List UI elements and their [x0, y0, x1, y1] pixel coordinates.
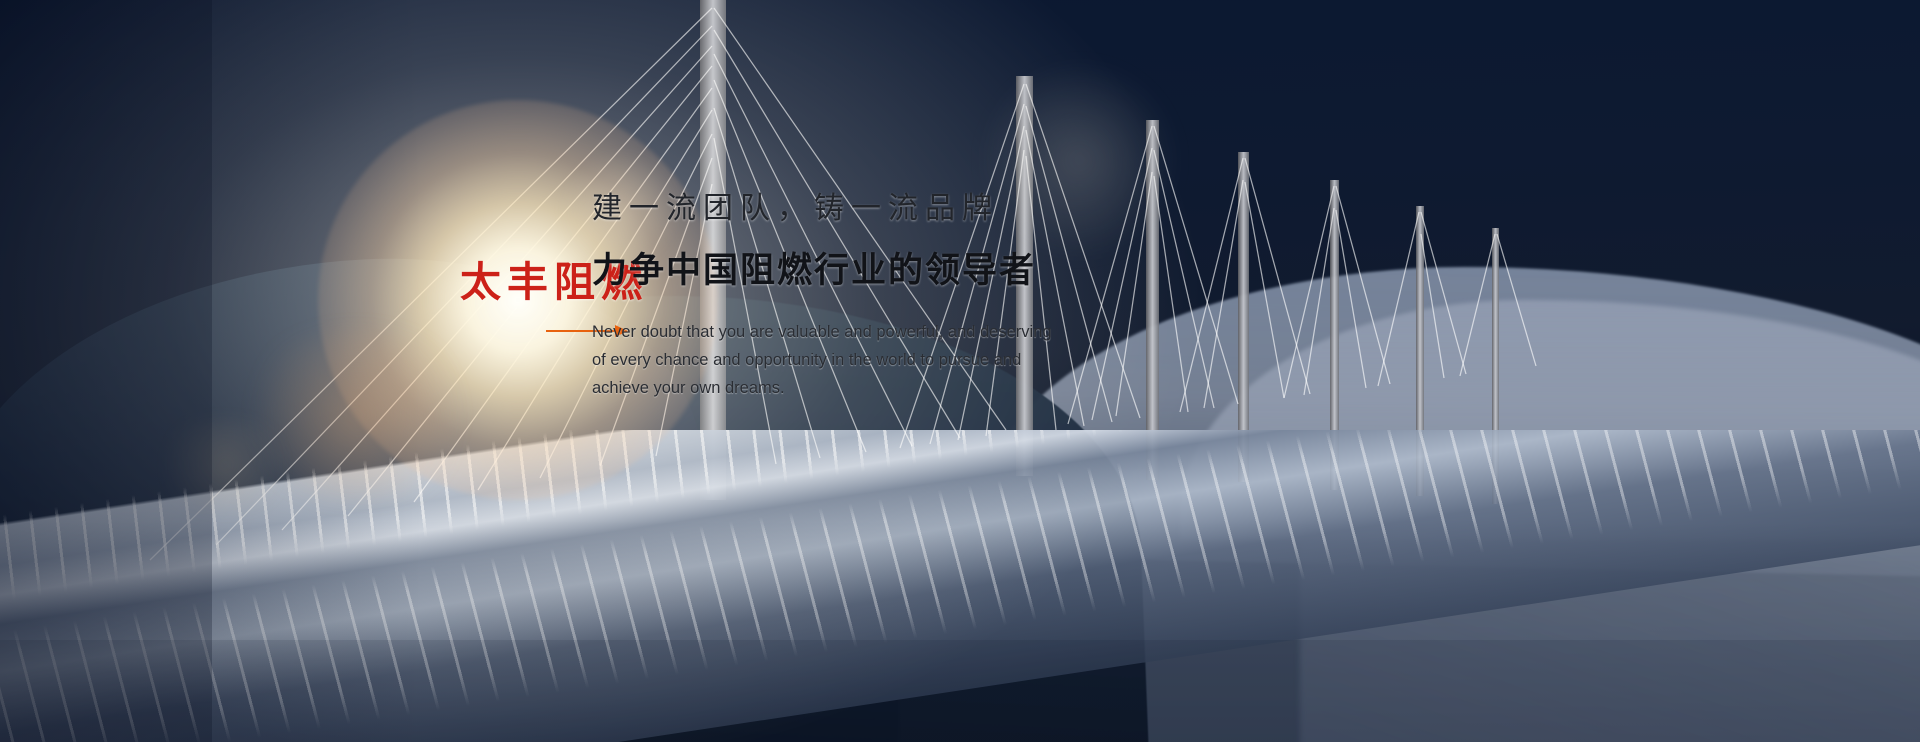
banner-paragraph: Never doubt that you are valuable and po… — [592, 319, 1212, 402]
paragraph-line-2: of every chance and opportunity in the w… — [592, 347, 1212, 375]
hero-banner: 太丰阻燃 建一流团队，铸一流品牌 力争中国阻燃行业的领导者 Never doub… — [0, 0, 1920, 742]
banner-content: 太丰阻燃 建一流团队，铸一流品牌 力争中国阻燃行业的领导者 Never doub… — [0, 0, 1920, 742]
banner-copy: 建一流团队，铸一流品牌 力争中国阻燃行业的领导者 Never doubt tha… — [592, 190, 1212, 402]
paragraph-line-1: Never doubt that you are valuable and po… — [592, 319, 1212, 347]
banner-headline: 力争中国阻燃行业的领导者 — [592, 250, 1212, 294]
paragraph-line-3: achieve your own dreams. — [592, 375, 1212, 403]
banner-subheadline: 建一流团队，铸一流品牌 — [592, 190, 1212, 228]
